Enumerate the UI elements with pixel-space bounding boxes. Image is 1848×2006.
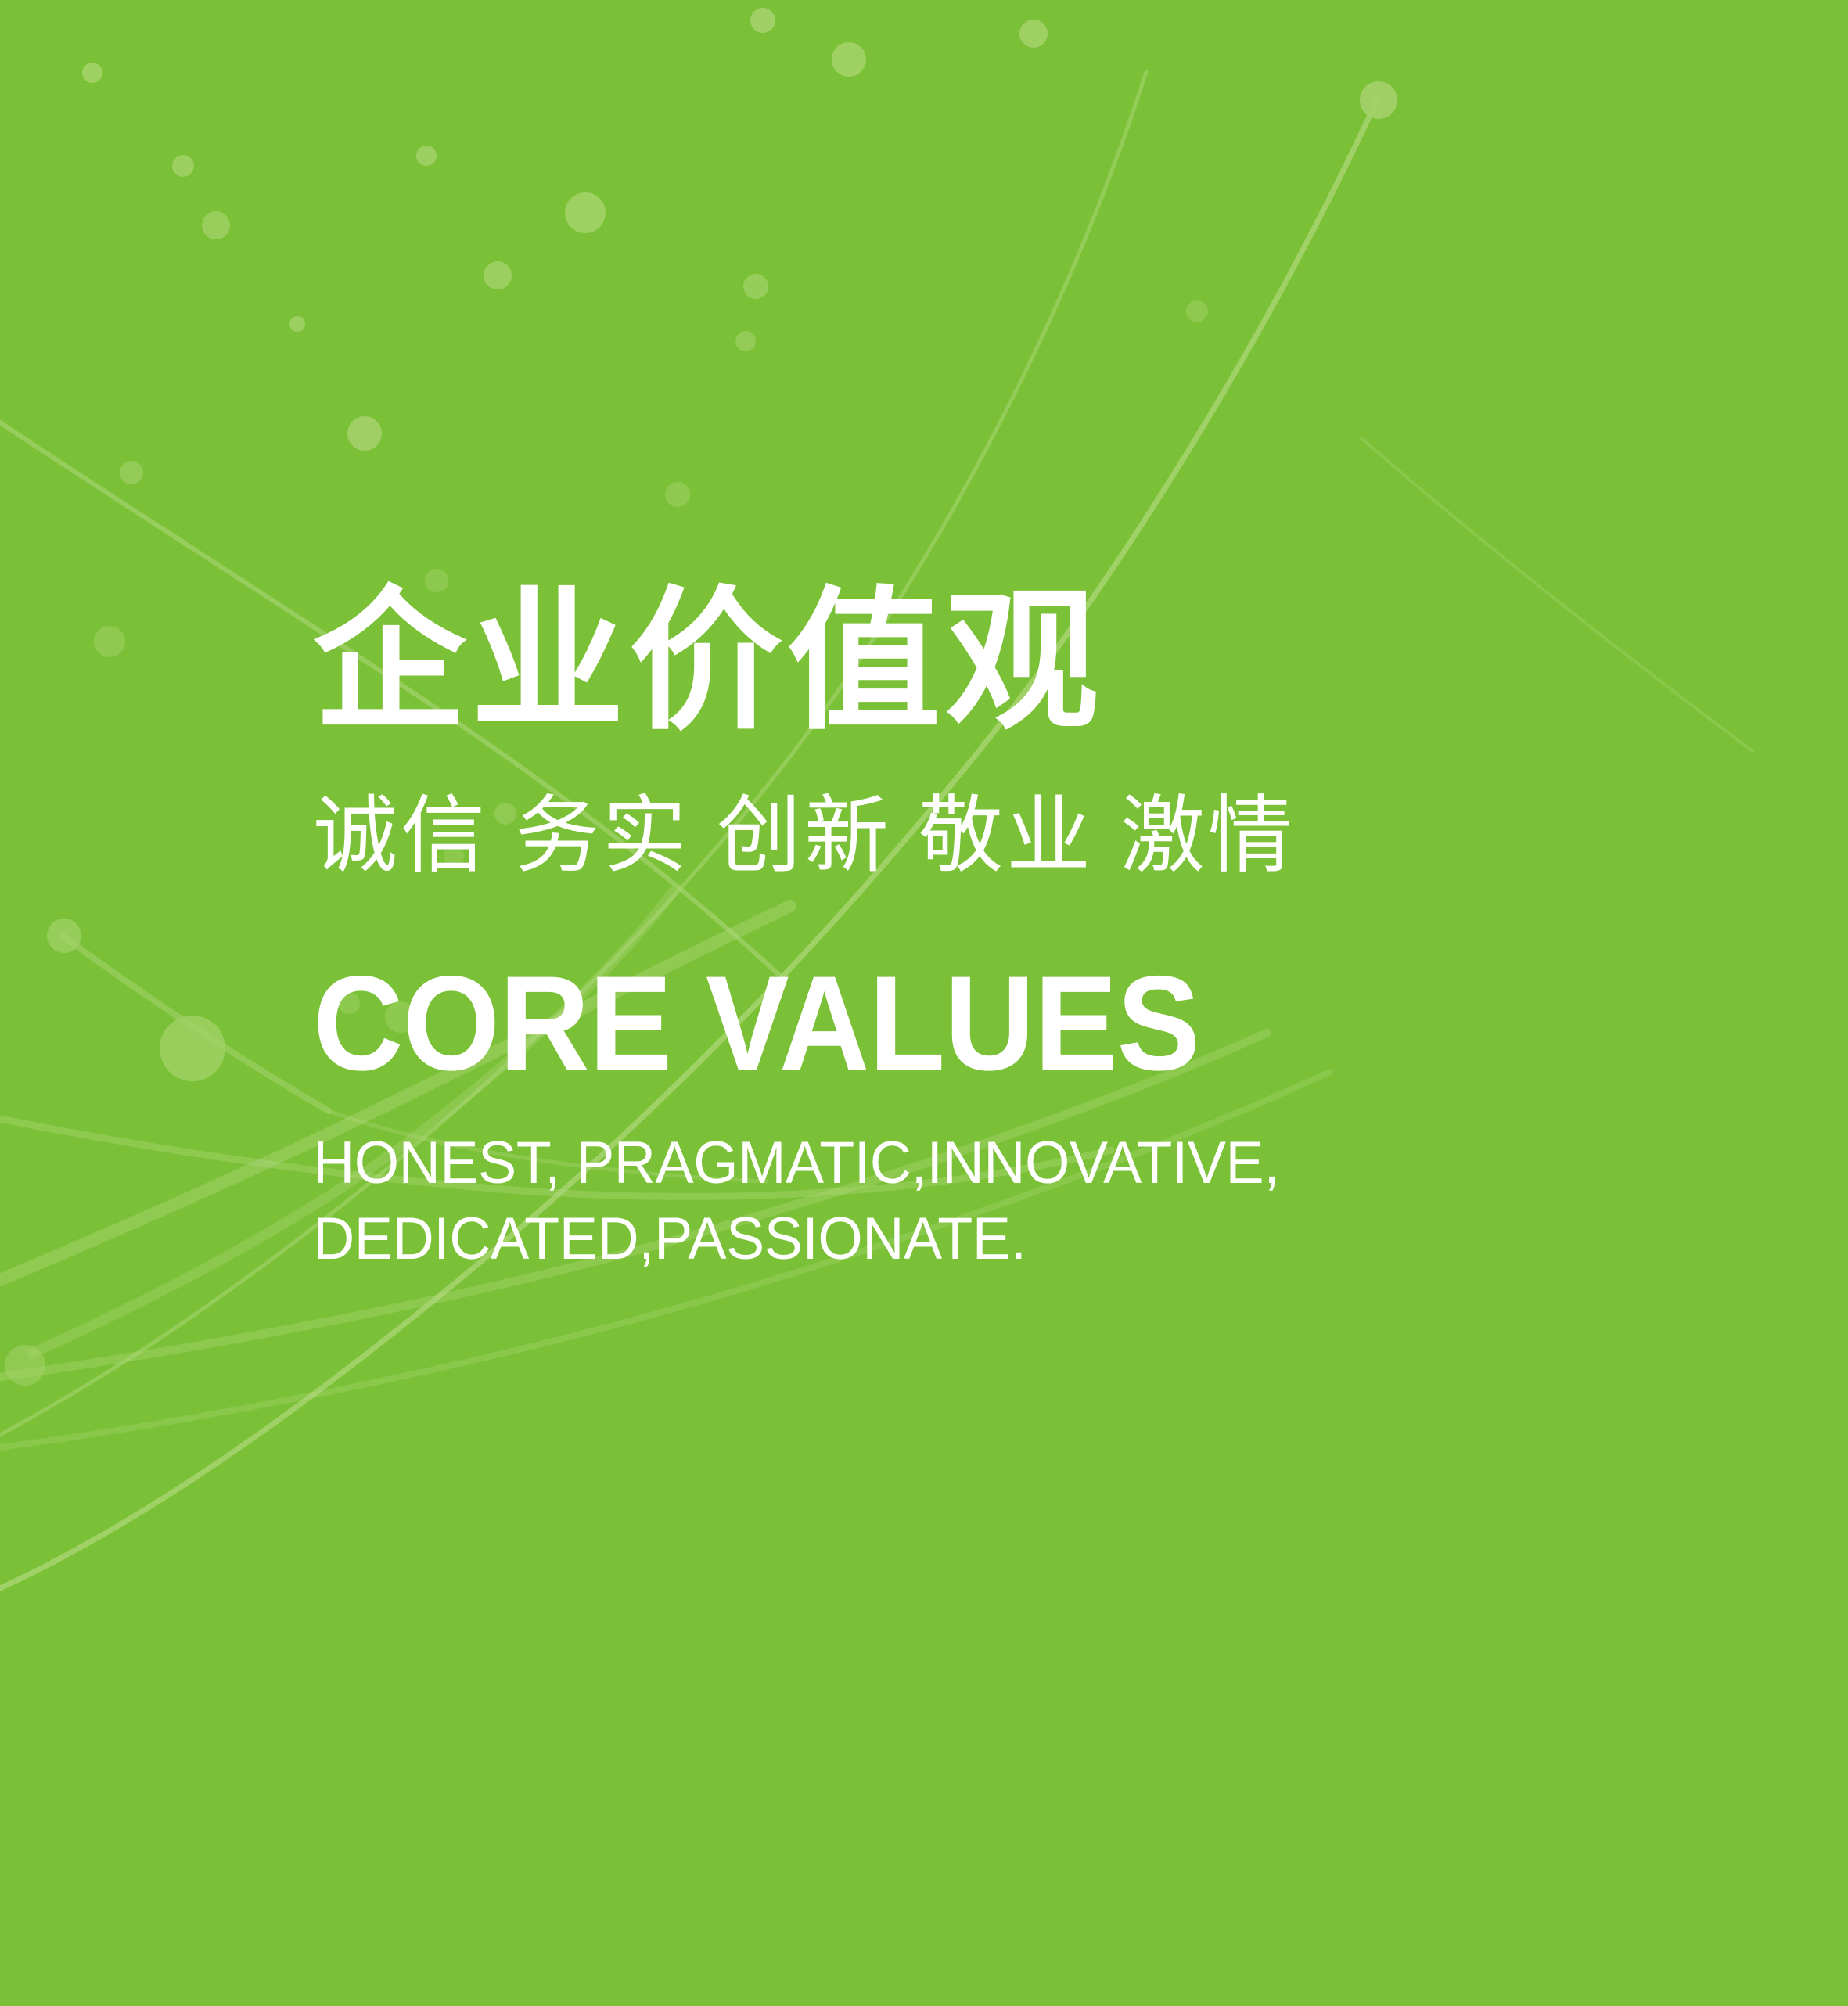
node-dot — [160, 1016, 225, 1081]
node-dot — [94, 626, 125, 657]
node-dot — [832, 42, 866, 77]
node-dot — [1186, 300, 1208, 322]
node-dot — [120, 461, 143, 484]
node-dot — [47, 919, 81, 953]
node-dot — [750, 8, 775, 33]
node-dot — [416, 146, 437, 166]
node-dot — [202, 211, 230, 239]
body-text-english: HONEST, PRAGMATIC,INNOVATIVE, DEDICATED,… — [313, 1125, 1648, 1278]
node-dot — [289, 316, 305, 332]
node-dot — [665, 482, 690, 507]
node-dot — [1019, 20, 1048, 48]
node-dot — [484, 261, 512, 289]
poster-text-block: 企业价值观 诚信 务实 创新 敬业 激情 CORE VALUES HONEST,… — [313, 581, 1690, 1277]
node-dot — [5, 1345, 45, 1386]
subtitle-chinese: 诚信 务实 创新 敬业 激情 — [313, 793, 1690, 878]
body-text-line-2: DEDICATED,PASSIONATE. — [313, 1201, 1648, 1277]
body-text-line-1: HONEST, PRAGMATIC,INNOVATIVE, — [313, 1125, 1648, 1201]
node-dot — [172, 155, 194, 177]
node-dot — [743, 274, 768, 299]
node-dot — [347, 416, 382, 451]
core-values-poster: 企业价值观 诚信 务实 创新 敬业 激情 CORE VALUES HONEST,… — [0, 0, 1848, 2006]
page-title-english: CORE VALUES — [313, 956, 1594, 1091]
page-title-chinese: 企业价值观 — [313, 581, 1690, 743]
node-dot — [82, 63, 102, 83]
node-dot — [565, 192, 606, 233]
node-dot — [1360, 81, 1397, 119]
node-dot — [735, 331, 756, 351]
